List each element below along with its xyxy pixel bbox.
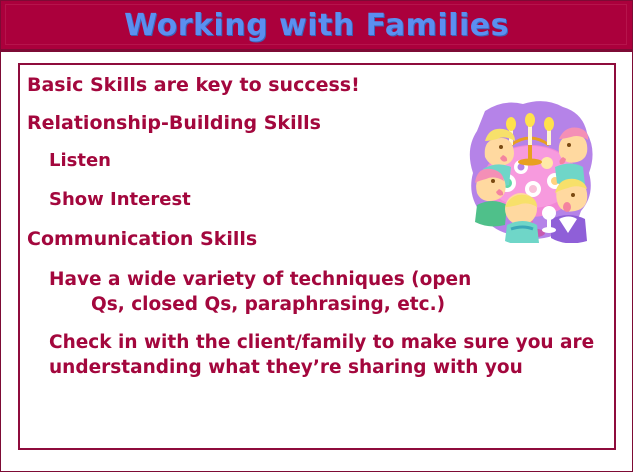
clipart-candle (528, 125, 532, 145)
list-item-basic-skills: Basic Skills are key to success! (27, 75, 487, 96)
techniques-line-1: Have a wide variety of techniques (open (49, 269, 471, 290)
clipart-candelabra-base (518, 159, 542, 166)
list-item-communication-skills: Communication Skills (27, 229, 487, 250)
slide: Working with Families Basic Skills are k… (0, 0, 633, 472)
clipart-bowl (541, 157, 553, 169)
clipart-candle-flame (506, 117, 516, 131)
body-content-list: Basic Skills are key to success! Relatio… (27, 75, 487, 380)
list-item-relationship-building: Relationship-Building Skills (27, 113, 487, 134)
clipart-person-bottom (505, 193, 539, 243)
clipart-candle (547, 129, 551, 145)
list-item-check-in: Check in with the client/family to make … (49, 330, 597, 380)
clipart-candle-flame (525, 113, 535, 127)
list-item-techniques: Have a wide variety of techniques (open … (49, 267, 594, 317)
list-item-show-interest: Show Interest (49, 190, 487, 210)
clipart-plate-food (529, 185, 537, 193)
techniques-line-2: Qs, closed Qs, paraphrasing, etc.) (91, 292, 594, 317)
title-banner: Working with Families (1, 1, 632, 52)
page-title: Working with Families (124, 8, 509, 43)
family-dinner-clipart (463, 97, 601, 243)
list-item-listen: Listen (49, 151, 487, 171)
clipart-candle-flame (544, 117, 554, 131)
